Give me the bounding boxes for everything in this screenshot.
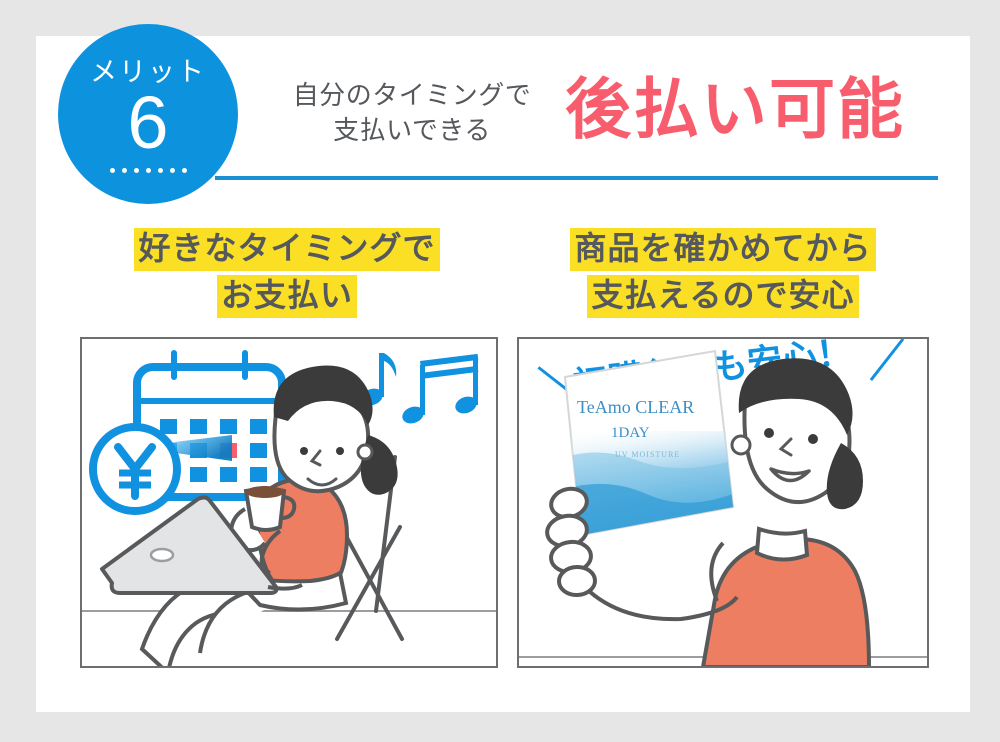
merit-badge-dot bbox=[170, 168, 175, 173]
product-subtext: UV MOISTURE bbox=[615, 450, 680, 459]
header-divider-rule bbox=[215, 176, 938, 180]
product-variant: 1DAY bbox=[611, 425, 650, 441]
illustration-panel-right: ＼ 初購入でも安心！ ／ bbox=[517, 337, 929, 668]
merit-badge-dot bbox=[122, 168, 127, 173]
header-subtitle-line1: 自分のタイミングで bbox=[262, 78, 562, 113]
product-brand: TeAmo CLEAR bbox=[577, 397, 694, 417]
header-subtitle: 自分のタイミングで 支払いできる bbox=[262, 78, 562, 149]
promo-graphic: メリット 6 自分のタイミングで 支払いできる 後払い可能 好きなタイミングで … bbox=[0, 0, 1000, 742]
merit-badge-dot bbox=[146, 168, 151, 173]
banner-slash-right: ／ bbox=[865, 339, 910, 386]
merit-badge-dot bbox=[134, 168, 139, 173]
merit-badge: メリット 6 bbox=[58, 24, 238, 204]
caption-left: 好きなタイミングで お支払い bbox=[72, 228, 502, 322]
caption-left-line1: 好きなタイミングで bbox=[134, 228, 439, 271]
header-headline: 後払い可能 bbox=[565, 76, 905, 142]
merit-badge-dot bbox=[110, 168, 115, 173]
merit-badge-dot bbox=[182, 168, 187, 173]
caption-right-line2: 支払えるので安心 bbox=[587, 275, 858, 318]
merit-badge-dots bbox=[110, 168, 187, 173]
illustration-panel-left bbox=[80, 337, 498, 668]
caption-right-line1: 商品を確かめてから bbox=[570, 228, 875, 271]
caption-left-line2: お支払い bbox=[217, 275, 357, 318]
yen-coin-icon bbox=[93, 427, 177, 511]
merit-badge-dot bbox=[158, 168, 163, 173]
column-left: 好きなタイミングで お支払い bbox=[72, 228, 502, 322]
column-right: 商品を確かめてから 支払えるので安心 bbox=[508, 228, 938, 322]
caption-right: 商品を確かめてから 支払えるので安心 bbox=[508, 228, 938, 322]
header-subtitle-line2: 支払いできる bbox=[262, 113, 562, 148]
merit-badge-number: 6 bbox=[127, 88, 168, 158]
